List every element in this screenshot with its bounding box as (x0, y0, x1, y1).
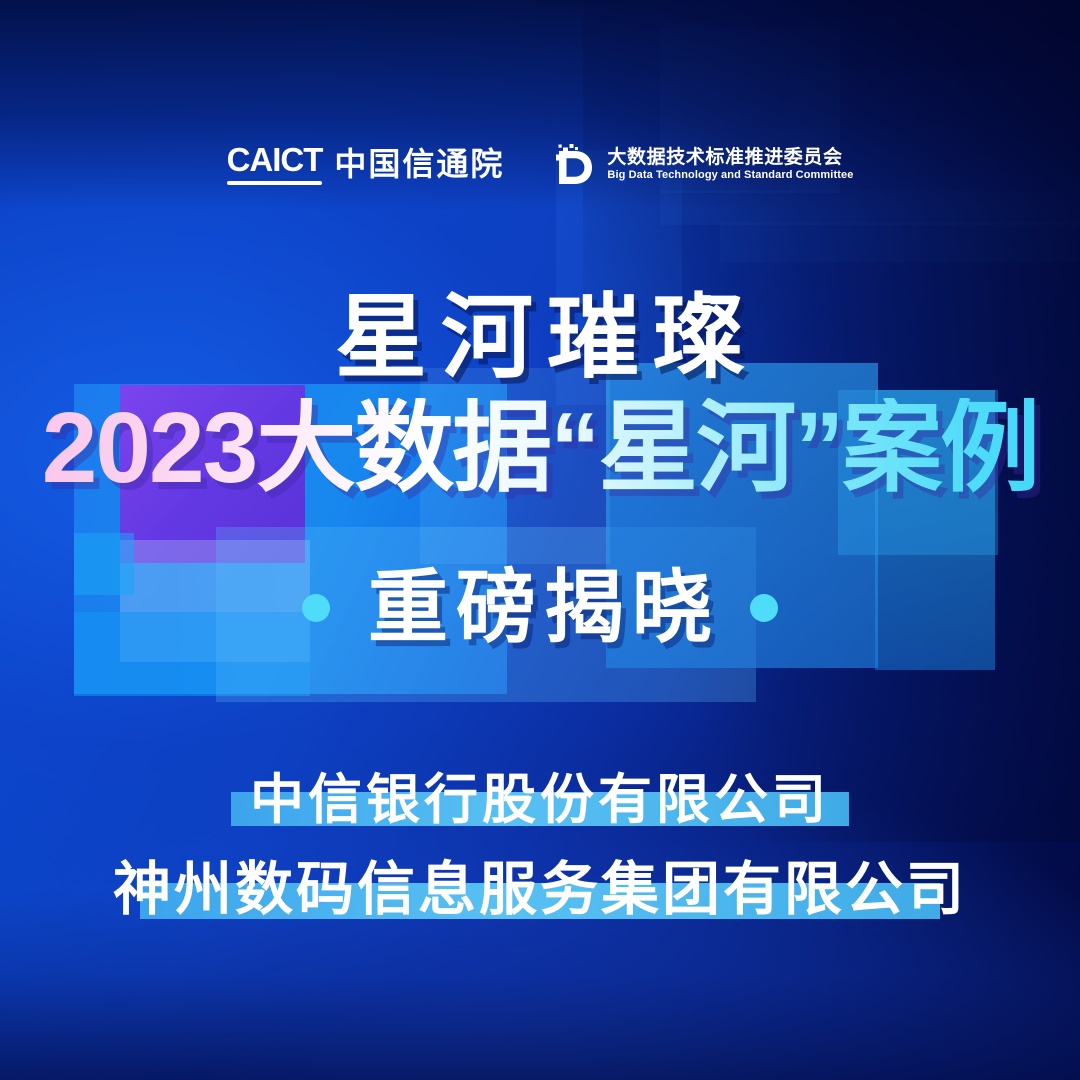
caict-chinese-name: 中国信通院 (334, 148, 504, 180)
headline-line-2: 2023大数据“星河”案例 (0, 398, 1080, 498)
bullet-dot-right-icon (750, 594, 778, 622)
company-name: 中信银行股份有限公司 (250, 770, 830, 830)
caict-wordmark: CAICT (227, 143, 323, 185)
headline-line-3: 重磅揭晓 (360, 568, 720, 648)
company-name: 神州数码信息服务集团有限公司 (113, 857, 967, 922)
bdtsc-english-name: Big Data Technology and Standard Committ… (607, 170, 853, 181)
company-list: 中信银行股份有限公司 神州数码信息服务集团有限公司 (0, 770, 1080, 923)
bullet-dot-left-icon (302, 594, 330, 622)
bdtsc-chinese-name: 大数据技术标准推进委员会 (607, 148, 853, 167)
bdtsc-logo: 大数据技术标准推进委员会 Big Data Technology and Sta… (550, 140, 853, 188)
caict-logo: CAICT 中国信通院 (227, 143, 505, 185)
poster-canvas: CAICT 中国信通院 大数据技术标准推进委员会 Big Data Techno… (0, 0, 1080, 1080)
company-row: 中信银行股份有限公司 (0, 770, 1080, 830)
bdtsc-d-icon (550, 140, 596, 188)
headline-line-3-row: 重磅揭晓 (0, 568, 1080, 648)
logo-row: CAICT 中国信通院 大数据技术标准推进委员会 Big Data Techno… (0, 140, 1080, 188)
company-row: 神州数码信息服务集团有限公司 (0, 858, 1080, 923)
bdtsc-text-block: 大数据技术标准推进委员会 Big Data Technology and Sta… (607, 148, 853, 181)
headline-line-1: 星河璀璨 (0, 292, 1080, 384)
